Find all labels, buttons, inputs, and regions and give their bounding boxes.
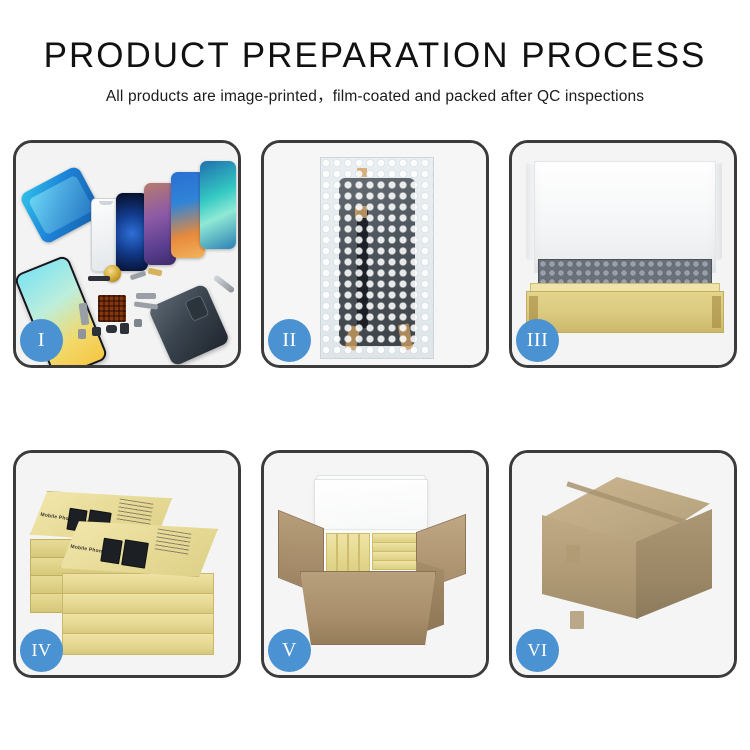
- page-title: PRODUCT PREPARATION PROCESS: [0, 38, 750, 75]
- box-screen-image: [100, 538, 123, 565]
- step-card-5: V: [261, 450, 489, 678]
- step-card-4: Mobile Phone Spare Parts Mobile Phone Sp…: [13, 450, 241, 678]
- yellow-box-item: [326, 533, 337, 573]
- yellow-box-item: [372, 560, 418, 570]
- step-5-image: V: [264, 453, 486, 675]
- copper-grid-part: [98, 295, 126, 322]
- stacked-box: [62, 593, 214, 615]
- step-badge-5: V: [268, 629, 311, 672]
- step-4-image: Mobile Phone Spare Parts Mobile Phone Sp…: [16, 453, 238, 675]
- step-card-6: VI: [509, 450, 737, 678]
- yellow-box-item: [359, 533, 370, 573]
- chip-part: [106, 325, 117, 333]
- phone-back-housing: [148, 283, 231, 365]
- chip-part: [88, 276, 110, 281]
- yellow-box-item: [348, 533, 359, 573]
- step-3-image: III: [512, 143, 734, 365]
- step-badge-2: II: [268, 319, 311, 362]
- chip-part: [92, 327, 101, 336]
- screwdriver-tool: [213, 274, 236, 294]
- phone-screen-teal: [200, 161, 236, 249]
- step-badge-3: III: [516, 319, 559, 362]
- chip-part: [120, 323, 129, 334]
- step-6-image: VI: [512, 453, 734, 675]
- flex-cable-part: [130, 271, 147, 281]
- chip-part: [78, 329, 86, 339]
- step-1-image: I: [16, 143, 238, 365]
- step-card-3: III: [509, 140, 737, 368]
- step-card-1: I: [13, 140, 241, 368]
- bubble-texture: [321, 158, 433, 358]
- box-yellow-front: [526, 291, 724, 333]
- carton-front-face: [300, 571, 436, 645]
- flex-cable-part: [134, 301, 158, 309]
- chip-part: [134, 319, 142, 327]
- bubble-wrap-bag: [320, 157, 434, 359]
- flex-cable-part: [136, 293, 156, 299]
- page-subtitle: All products are image-printed，film-coat…: [0, 84, 750, 106]
- stacked-box: [62, 633, 214, 655]
- step-badge-4: IV: [20, 629, 63, 672]
- step-2-image: II: [264, 143, 486, 365]
- step-badge-6: VI: [516, 629, 559, 672]
- step-card-2: II: [261, 140, 489, 368]
- gold-connector-part: [148, 268, 163, 277]
- process-steps-grid: I II III: [13, 140, 737, 678]
- tape-strip: [566, 545, 580, 563]
- stacked-box: [62, 613, 214, 635]
- box-white-lid: [534, 161, 716, 273]
- step-badge-1: I: [20, 319, 63, 362]
- yellow-box-item: [337, 533, 348, 573]
- page-header: PRODUCT PREPARATION PROCESS All products…: [0, 0, 750, 106]
- box-screen-image: [121, 539, 149, 568]
- tape-strip: [570, 611, 584, 629]
